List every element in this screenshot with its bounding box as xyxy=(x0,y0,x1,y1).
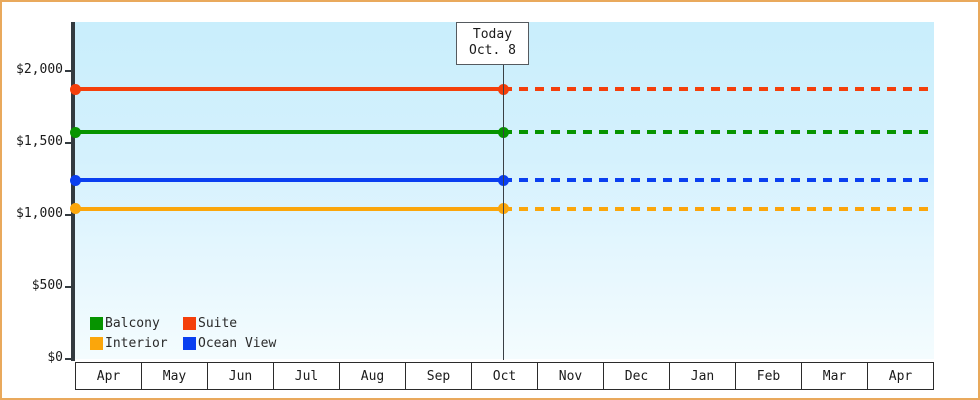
legend-item-ocean-view[interactable]: Ocean View xyxy=(183,336,276,351)
y-axis-tick xyxy=(65,142,72,144)
x-axis-month-cell[interactable]: Apr xyxy=(76,363,142,390)
x-axis-month-cell[interactable]: Oct xyxy=(472,363,538,390)
y-axis-tick-label: $2,000 xyxy=(2,62,63,77)
series-line-dashed-forecast xyxy=(503,207,934,211)
y-axis-tick xyxy=(65,70,72,72)
x-axis-month-table: AprMayJunJulAugSepOctNovDecJanFebMarApr xyxy=(75,362,934,390)
y-axis-tick-label: $1,500 xyxy=(2,134,63,149)
legend-swatch-suite-icon xyxy=(183,317,196,330)
legend-item-balcony[interactable]: Balcony xyxy=(90,316,183,331)
x-axis-month-cell[interactable]: May xyxy=(142,363,208,390)
plot-area xyxy=(75,22,934,359)
y-axis-tick-label: $1,000 xyxy=(2,206,63,221)
series-start-dot xyxy=(70,84,81,95)
x-axis-month-row: AprMayJunJulAugSepOctNovDecJanFebMarApr xyxy=(76,363,934,390)
y-axis-spine xyxy=(71,22,75,361)
legend-label-interior: Interior xyxy=(105,336,168,351)
legend-item-interior[interactable]: Interior xyxy=(90,336,183,351)
legend-row-2: Interior Ocean View xyxy=(90,333,276,353)
x-axis-month-cell[interactable]: Jun xyxy=(208,363,274,390)
y-axis-tick xyxy=(65,214,72,216)
x-axis-month-cell[interactable]: Mar xyxy=(802,363,868,390)
chart-page: $0$500$1,000$1,500$2,000 Today Oct. 8 Ba… xyxy=(0,0,980,400)
legend-swatch-interior-icon xyxy=(90,337,103,350)
series-start-dot xyxy=(70,127,81,138)
series-line-solid xyxy=(75,178,503,182)
x-axis-month-cell[interactable]: Feb xyxy=(736,363,802,390)
chart-legend: Balcony Suite Interior Ocean View xyxy=(90,313,276,353)
series-line-dashed-forecast xyxy=(503,178,934,182)
series-line-solid xyxy=(75,130,503,134)
today-label-line1: Today xyxy=(469,27,516,43)
series-line-dashed-forecast xyxy=(503,87,934,91)
y-axis-tick-label: $0 xyxy=(2,350,63,365)
legend-item-suite[interactable]: Suite xyxy=(183,316,237,331)
legend-label-balcony: Balcony xyxy=(105,316,160,331)
x-axis-month-cell[interactable]: Aug xyxy=(340,363,406,390)
x-axis-month-cell[interactable]: Apr xyxy=(868,363,934,390)
today-callout-box: Today Oct. 8 xyxy=(456,22,529,65)
y-axis-tick-label: $500 xyxy=(2,278,63,293)
legend-label-ocean-view: Ocean View xyxy=(198,336,276,351)
legend-swatch-balcony-icon xyxy=(90,317,103,330)
today-marker-line xyxy=(503,62,504,360)
series-start-dot xyxy=(70,175,81,186)
today-label-line2: Oct. 8 xyxy=(469,43,516,59)
series-line-dashed-forecast xyxy=(503,130,934,134)
series-line-solid xyxy=(75,87,503,91)
series-start-dot xyxy=(70,203,81,214)
y-axis-tick xyxy=(65,286,72,288)
legend-swatch-ocean-view-icon xyxy=(183,337,196,350)
x-axis-month-cell[interactable]: Sep xyxy=(406,363,472,390)
y-axis-tick xyxy=(65,358,72,360)
series-line-solid xyxy=(75,207,503,211)
legend-label-suite: Suite xyxy=(198,316,237,331)
x-axis-month-cell[interactable]: Dec xyxy=(604,363,670,390)
x-axis-month-cell[interactable]: Nov xyxy=(538,363,604,390)
legend-row-1: Balcony Suite xyxy=(90,313,276,333)
x-axis-month-cell[interactable]: Jan xyxy=(670,363,736,390)
x-axis-month-cell[interactable]: Jul xyxy=(274,363,340,390)
